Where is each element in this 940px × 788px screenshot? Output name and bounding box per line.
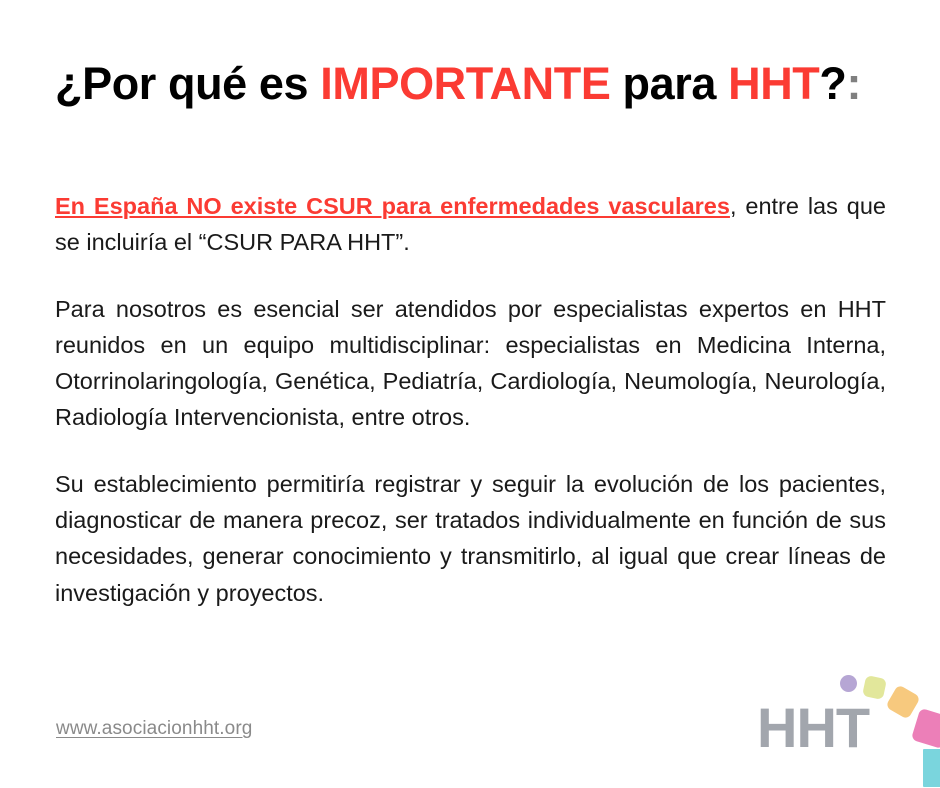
title-part-3: para xyxy=(610,58,728,109)
logo-cyan-square-icon xyxy=(923,749,940,787)
title-highlight-hht: HHT xyxy=(728,58,819,109)
page-title: ¿Por qué es IMPORTANTE para HHT?: xyxy=(55,57,895,112)
title-highlight-importante: IMPORTANTE xyxy=(320,58,610,109)
logo-wordmark: HHT xyxy=(757,700,869,756)
paragraph-1-lead: En España NO existe CSUR para enfermedad… xyxy=(55,193,730,219)
title-colon: : xyxy=(847,58,862,109)
hht-logo: HHT xyxy=(757,668,917,764)
title-block: ¿Por qué es IMPORTANTE para HHT?: xyxy=(55,57,895,112)
title-part-1: ¿Por qué es xyxy=(55,58,320,109)
slide-canvas: ¿Por qué es IMPORTANTE para HHT?: En Esp… xyxy=(0,0,940,788)
footer-website-link[interactable]: www.asociacionhht.org xyxy=(56,718,252,740)
paragraph-1: En España NO existe CSUR para enfermedad… xyxy=(55,188,886,261)
paragraph-2: Para nosotros es esencial ser atendidos … xyxy=(55,291,886,436)
logo-purple-dot-icon xyxy=(840,675,857,692)
paragraph-3: Su establecimiento permitiría registrar … xyxy=(55,466,886,611)
logo-lime-square-icon xyxy=(862,675,887,700)
logo-pink-square-icon xyxy=(911,708,940,749)
logo-orange-square-icon xyxy=(885,684,921,720)
title-question-mark: ? xyxy=(819,58,846,109)
body-text-block: En España NO existe CSUR para enfermedad… xyxy=(55,188,886,611)
